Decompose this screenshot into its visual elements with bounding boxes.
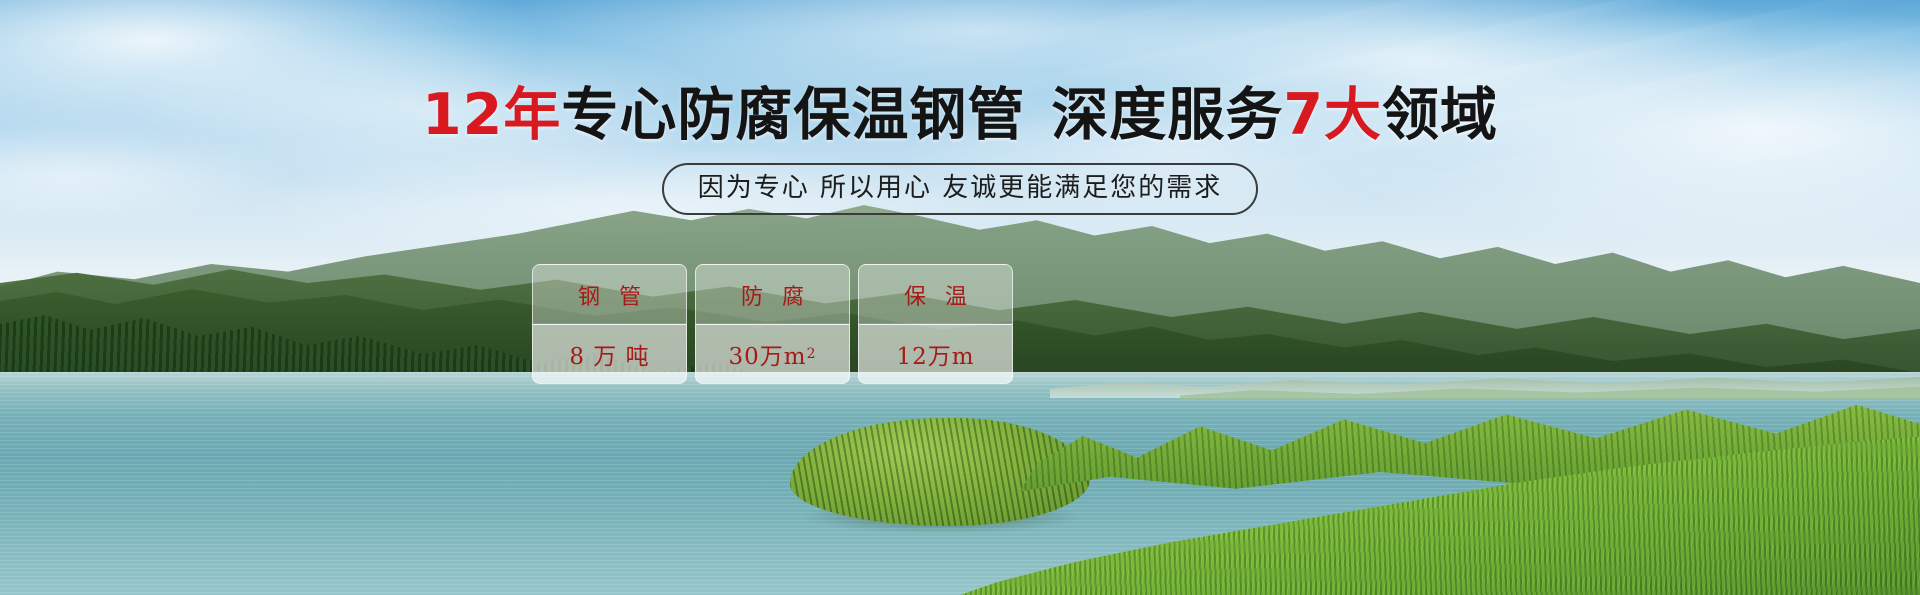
stat-card-value: 30万m2 bbox=[729, 324, 817, 383]
stat-card-value: 8 万 吨 bbox=[569, 324, 649, 383]
subtitle-pill: 因为专心 所以用心 友诚更能满足您的需求 bbox=[662, 163, 1259, 215]
stat-card-title: 防 腐 bbox=[735, 265, 810, 324]
stat-card-insulation[interactable]: 保 温 12万m bbox=[858, 264, 1013, 384]
stat-card-value-text: 30万m bbox=[729, 337, 807, 371]
headline-text-tertiary: 领域 bbox=[1382, 82, 1498, 148]
stat-card-title: 保 温 bbox=[898, 265, 973, 324]
stat-card-group: 钢 管 8 万 吨 防 腐 30万m2 保 温 12万m bbox=[532, 264, 1013, 384]
stat-card-value-text: 8 万 吨 bbox=[569, 337, 649, 371]
headline-accent-years: 12年 bbox=[422, 82, 561, 148]
stat-card-title: 钢 管 bbox=[572, 265, 647, 324]
stat-card-steel-pipe[interactable]: 钢 管 8 万 吨 bbox=[532, 264, 687, 384]
stat-card-value: 12万m bbox=[896, 324, 974, 383]
stat-card-anticorrosion[interactable]: 防 腐 30万m2 bbox=[695, 264, 850, 384]
hero-banner: 12年专心防腐保温钢管深度服务7大领域 因为专心 所以用心 友诚更能满足您的需求… bbox=[0, 0, 1920, 595]
stat-card-value-exponent: 2 bbox=[807, 346, 817, 362]
subtitle-container: 因为专心 所以用心 友诚更能满足您的需求 bbox=[0, 163, 1920, 215]
headline-text-primary: 专心防腐保温钢管 bbox=[561, 82, 1025, 148]
stat-card-value-text: 12万m bbox=[896, 337, 974, 371]
headline-text-secondary: 深度服务 bbox=[1051, 82, 1283, 148]
headline-accent-fields: 7大 bbox=[1283, 82, 1382, 148]
page-title: 12年专心防腐保温钢管深度服务7大领域 bbox=[0, 84, 1920, 146]
